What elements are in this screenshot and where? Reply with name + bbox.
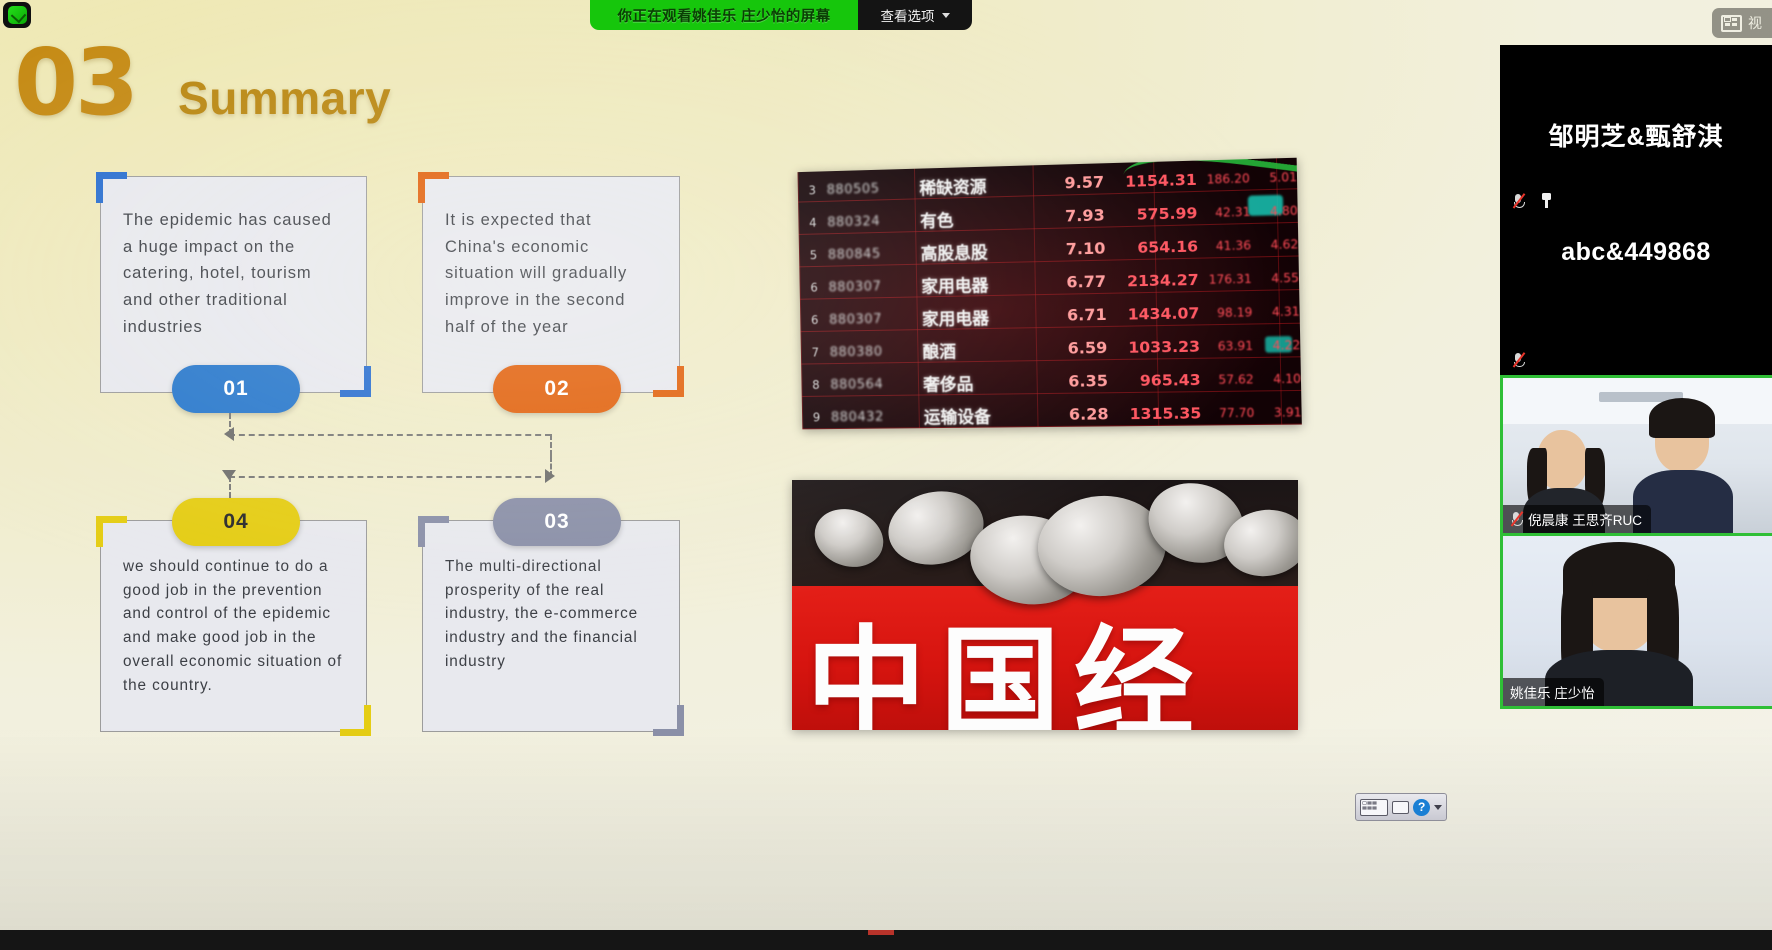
- ticker-col4: 186.20: [1197, 171, 1250, 187]
- ticker-code: 880505: [826, 179, 919, 197]
- chevron-down-icon[interactable]: [1434, 805, 1442, 810]
- chevron-down-icon: [942, 13, 950, 18]
- help-icon[interactable]: ?: [1413, 799, 1430, 816]
- projector-bezel: [0, 930, 1772, 950]
- view-layout-label: 视: [1748, 13, 1762, 33]
- ticker-code: 880307: [828, 277, 921, 295]
- participant-tile-name-only[interactable]: 邹明芝&甄舒淇 abc&449868: [1500, 45, 1772, 375]
- summary-card-04: we should continue to do a good job in t…: [100, 520, 367, 732]
- ticker-index: 3: [798, 183, 827, 198]
- ticker-volume: 2134.27: [1106, 270, 1199, 290]
- page-title: 03 Summary: [14, 42, 391, 125]
- trackpad-icon[interactable]: [1392, 801, 1410, 814]
- ticker-col5: 5.01: [1250, 169, 1297, 185]
- summary-card-03: The multi-directional prosperity of the …: [422, 520, 680, 732]
- view-layout-button[interactable]: 视: [1712, 8, 1772, 38]
- ticker-volume: 965.43: [1108, 370, 1201, 389]
- screen-share-banner: 你正在观看姚佳乐 庄少怡的屏幕 查看选项: [590, 0, 972, 30]
- ticker-col5: 4.10: [1254, 371, 1301, 386]
- pin-icon[interactable]: [1539, 193, 1554, 209]
- card-badge-04: 04: [172, 498, 300, 546]
- ticker-code: 880324: [827, 212, 920, 230]
- mic-muted-icon: [1510, 512, 1523, 527]
- ticker-index: 4: [798, 215, 827, 229]
- ticker-col4: 41.36: [1198, 238, 1251, 253]
- ticker-code: 880845: [828, 244, 921, 262]
- ticker-percent: 6.71: [1045, 305, 1107, 325]
- ticker-index: 7: [801, 345, 830, 359]
- ticker-code: 880307: [829, 310, 922, 327]
- person-silhouette: [1655, 408, 1709, 472]
- corner-bracket-icon: [96, 516, 127, 547]
- person-silhouette: [1579, 554, 1659, 652]
- ticker-percent: 6.59: [1045, 338, 1107, 358]
- ticker-row: 9 880432 运输设备 6.28 1315.35 77.70 3.91: [802, 395, 1302, 429]
- ticker-col4: 176.31: [1199, 271, 1252, 286]
- participant-name: 倪晨康 王思齐RUC: [1528, 509, 1642, 529]
- ticker-code: 880432: [831, 408, 924, 425]
- arrow-icon: [545, 469, 555, 483]
- badge-label: 04: [223, 510, 248, 534]
- ticker-name: 家用电器: [922, 303, 1045, 330]
- corner-bracket-icon: [96, 172, 127, 203]
- connector-line: [229, 434, 551, 436]
- ticker-name: 高股息股: [920, 237, 1043, 265]
- ticker-name: 稀缺资源: [919, 171, 1042, 199]
- ticker-percent: 7.10: [1043, 239, 1105, 259]
- corner-bracket-icon: [653, 705, 684, 736]
- ticker-col5: 4.31: [1252, 304, 1299, 319]
- ticker-index: 5: [799, 248, 828, 262]
- keyboard-icon[interactable]: [1360, 799, 1388, 816]
- ticker-name: 运输设备: [924, 402, 1047, 428]
- ticker-col5: 4.55: [1252, 270, 1299, 285]
- corner-bracket-icon: [418, 516, 449, 547]
- ticker-name: 酿酒: [922, 336, 1045, 363]
- corner-bracket-icon: [340, 366, 371, 397]
- view-grid-icon: [1721, 15, 1742, 32]
- ticker-col4: 42.31: [1197, 204, 1250, 220]
- meeting-screen: 03 Summary The epidemic has caused a hug…: [0, 0, 1772, 950]
- ticker-col4: 98.19: [1199, 305, 1252, 320]
- card-text: we should continue to do a good job in t…: [101, 521, 366, 715]
- ticker-col5: 4.62: [1251, 237, 1298, 252]
- ticker-col5: 4.22: [1253, 337, 1300, 352]
- card-text: The epidemic has caused a huge impact on…: [101, 177, 366, 359]
- participant-name-bar: 姚佳乐 庄少怡: [1503, 678, 1604, 706]
- share-status-label: 你正在观看姚佳乐 庄少怡的屏幕: [590, 0, 858, 30]
- badge-label: 01: [223, 377, 248, 401]
- bezel-notch: [868, 930, 894, 935]
- participant-tile-video[interactable]: 姚佳乐 庄少怡: [1500, 536, 1772, 709]
- mic-muted-icon: [1512, 194, 1525, 209]
- ticker-name: 家用电器: [921, 270, 1044, 297]
- ticker-volume: 1033.23: [1107, 337, 1200, 357]
- ticker-col5: 4.80: [1250, 203, 1297, 218]
- connector-line: [229, 476, 551, 478]
- ticker-name: 有色: [920, 204, 1043, 232]
- ticker-code: 880380: [830, 342, 923, 359]
- ticker-volume: 575.99: [1105, 204, 1198, 224]
- ticker-name: 奢侈品: [923, 369, 1046, 395]
- ticker-percent: 6.28: [1047, 404, 1109, 424]
- corner-bracket-icon: [418, 172, 449, 203]
- participant-name-bar: 倪晨康 王思齐RUC: [1503, 505, 1651, 533]
- ticker-volume: 1154.31: [1104, 170, 1197, 191]
- ticker-col4: 77.70: [1201, 405, 1254, 420]
- badge-label: 03: [544, 510, 569, 534]
- floating-control-widget[interactable]: ?: [1355, 793, 1447, 821]
- card-text: The multi-directional prosperity of the …: [423, 521, 679, 692]
- ticker-percent: 7.93: [1043, 205, 1105, 226]
- participant-secondary-name: abc&449868: [1500, 238, 1772, 267]
- china-economy-photo: 中国经: [792, 480, 1298, 730]
- summary-card-02: It is expected that China's economic sit…: [422, 176, 680, 393]
- card-badge-03: 03: [493, 498, 621, 546]
- ticker-index: 9: [802, 410, 831, 424]
- stock-board-photo: 3 880505 稀缺资源 9.57 1154.31 186.20 5.01 4…: [798, 158, 1302, 430]
- ticker-index: 6: [800, 312, 829, 326]
- card-badge-02: 02: [493, 365, 621, 413]
- person-silhouette: [1537, 430, 1587, 490]
- ticker-index: 8: [801, 377, 830, 391]
- slide-title-text: Summary: [178, 71, 391, 125]
- participant-name: 姚佳乐 庄少怡: [1510, 682, 1595, 702]
- summary-card-01: The epidemic has caused a huge impact on…: [100, 176, 367, 393]
- ticker-code: 880564: [830, 375, 923, 392]
- slide-section-number: 03: [14, 42, 136, 125]
- participant-controls: [1512, 193, 1554, 209]
- ticker-volume: 1315.35: [1108, 404, 1201, 423]
- card-text: It is expected that China's economic sit…: [423, 177, 679, 359]
- view-options-label: 查看选项: [881, 5, 935, 25]
- arrow-icon: [222, 470, 236, 480]
- participant-video-strip: 邹明芝&甄舒淇 abc&449868: [1500, 45, 1772, 709]
- ticker-col5: 3.91: [1254, 405, 1301, 420]
- connector-stub: [550, 434, 552, 456]
- screen-share-icon: [3, 2, 31, 28]
- ticker-index: 6: [800, 280, 829, 294]
- ticker-volume: 1434.07: [1106, 304, 1199, 324]
- card-badge-01: 01: [172, 365, 300, 413]
- corner-bracket-icon: [653, 366, 684, 397]
- ticker-col4: 63.91: [1200, 338, 1253, 353]
- ticker-percent: 6.35: [1046, 371, 1108, 391]
- arrow-icon: [224, 427, 234, 441]
- badge-label: 02: [544, 377, 569, 401]
- ticker-volume: 654.16: [1105, 237, 1198, 257]
- participant-tile-video[interactable]: 倪晨康 王思齐RUC: [1500, 375, 1772, 536]
- ticker-col4: 57.62: [1201, 372, 1254, 387]
- participant-display-name: 邹明芝&甄舒淇: [1500, 117, 1772, 153]
- corner-bracket-icon: [340, 705, 371, 736]
- photo-headline: 中国经: [806, 586, 1208, 730]
- view-options-button[interactable]: 查看选项: [858, 0, 972, 30]
- ticker-percent: 9.57: [1042, 172, 1104, 193]
- ticker-percent: 6.77: [1044, 272, 1106, 292]
